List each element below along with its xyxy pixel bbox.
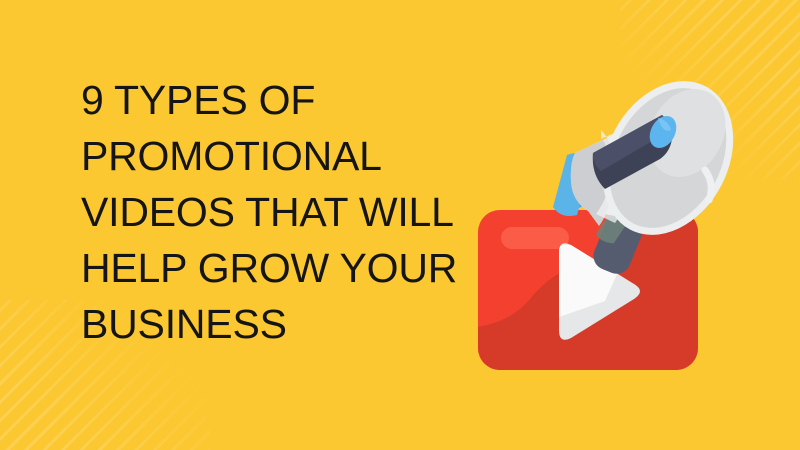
video-player-card: [478, 210, 698, 370]
page-title: 9 TYPES OF PROMOTIONAL VIDEOS THAT WILL …: [81, 72, 481, 352]
video-card-highlight-pill: [501, 227, 569, 249]
hero-illustration: [455, 55, 785, 395]
promo-banner-canvas: 9 TYPES OF PROMOTIONAL VIDEOS THAT WILL …: [0, 0, 800, 450]
